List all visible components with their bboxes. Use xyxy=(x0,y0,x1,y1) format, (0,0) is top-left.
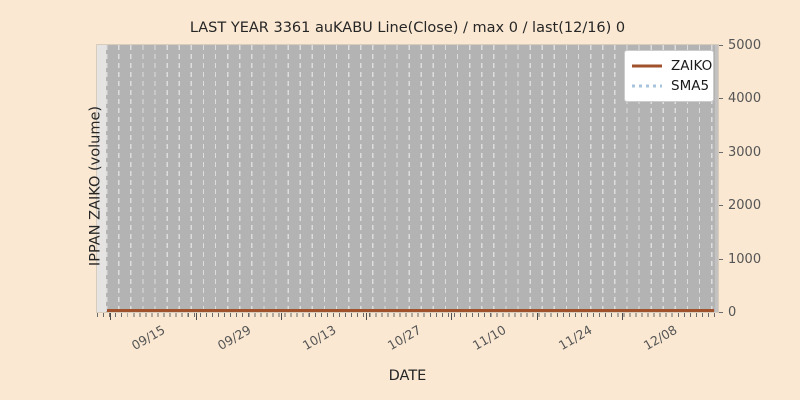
y-tick-mark xyxy=(719,205,723,206)
y-tick-label: 4000 xyxy=(728,92,761,105)
x-axis-label: DATE xyxy=(97,368,718,384)
x-tick-mark xyxy=(366,313,367,320)
y-tick-label: 1000 xyxy=(728,253,761,266)
y-tick-mark xyxy=(719,152,723,153)
x-tick-mark xyxy=(110,313,111,320)
y-axis-label: IPPAN ZAIKO (volume) xyxy=(88,53,104,320)
y-tick-mark xyxy=(719,259,723,260)
x-tick-mark xyxy=(451,313,452,320)
legend-label: SMA5 xyxy=(671,78,709,94)
chart-legend[interactable]: ZAIKO SMA5 xyxy=(624,50,714,102)
legend-dotted-swatch-icon xyxy=(632,81,662,91)
y-tick-label: 0 xyxy=(728,306,736,319)
legend-item-zaiko[interactable]: ZAIKO xyxy=(632,56,707,76)
x-tick-label: 10/13 xyxy=(300,322,339,353)
x-tick-label: 09/29 xyxy=(215,322,254,353)
x-tick-mark xyxy=(537,313,538,320)
x-tick-mark xyxy=(281,313,282,320)
y-tick-mark xyxy=(719,312,723,313)
y-tick-mark xyxy=(719,45,723,46)
legend-label: ZAIKO xyxy=(671,58,712,74)
x-tick-label: 09/15 xyxy=(129,322,168,353)
x-tick-label: 11/24 xyxy=(556,322,595,353)
axis-spine-right xyxy=(718,45,719,313)
x-tick-label: 12/08 xyxy=(641,322,680,353)
x-tick-mark xyxy=(196,313,197,320)
matplotlib-figure: LAST YEAR 3361 auKABU Line(Close) / max … xyxy=(0,0,800,400)
y-tick-label: 5000 xyxy=(728,39,761,52)
x-axis-minor-ticks xyxy=(97,313,718,317)
legend-line-swatch-icon xyxy=(632,61,662,71)
x-tick-mark xyxy=(622,313,623,320)
chart-title: LAST YEAR 3361 auKABU Line(Close) / max … xyxy=(97,20,718,36)
x-tick-label: 11/10 xyxy=(470,322,509,353)
legend-item-sma5[interactable]: SMA5 xyxy=(632,76,707,96)
y-tick-label: 2000 xyxy=(728,199,761,212)
x-tick-label: 10/27 xyxy=(385,322,424,353)
axis-spine-top xyxy=(96,44,719,45)
y-tick-mark xyxy=(719,98,723,99)
y-tick-label: 3000 xyxy=(728,146,761,159)
